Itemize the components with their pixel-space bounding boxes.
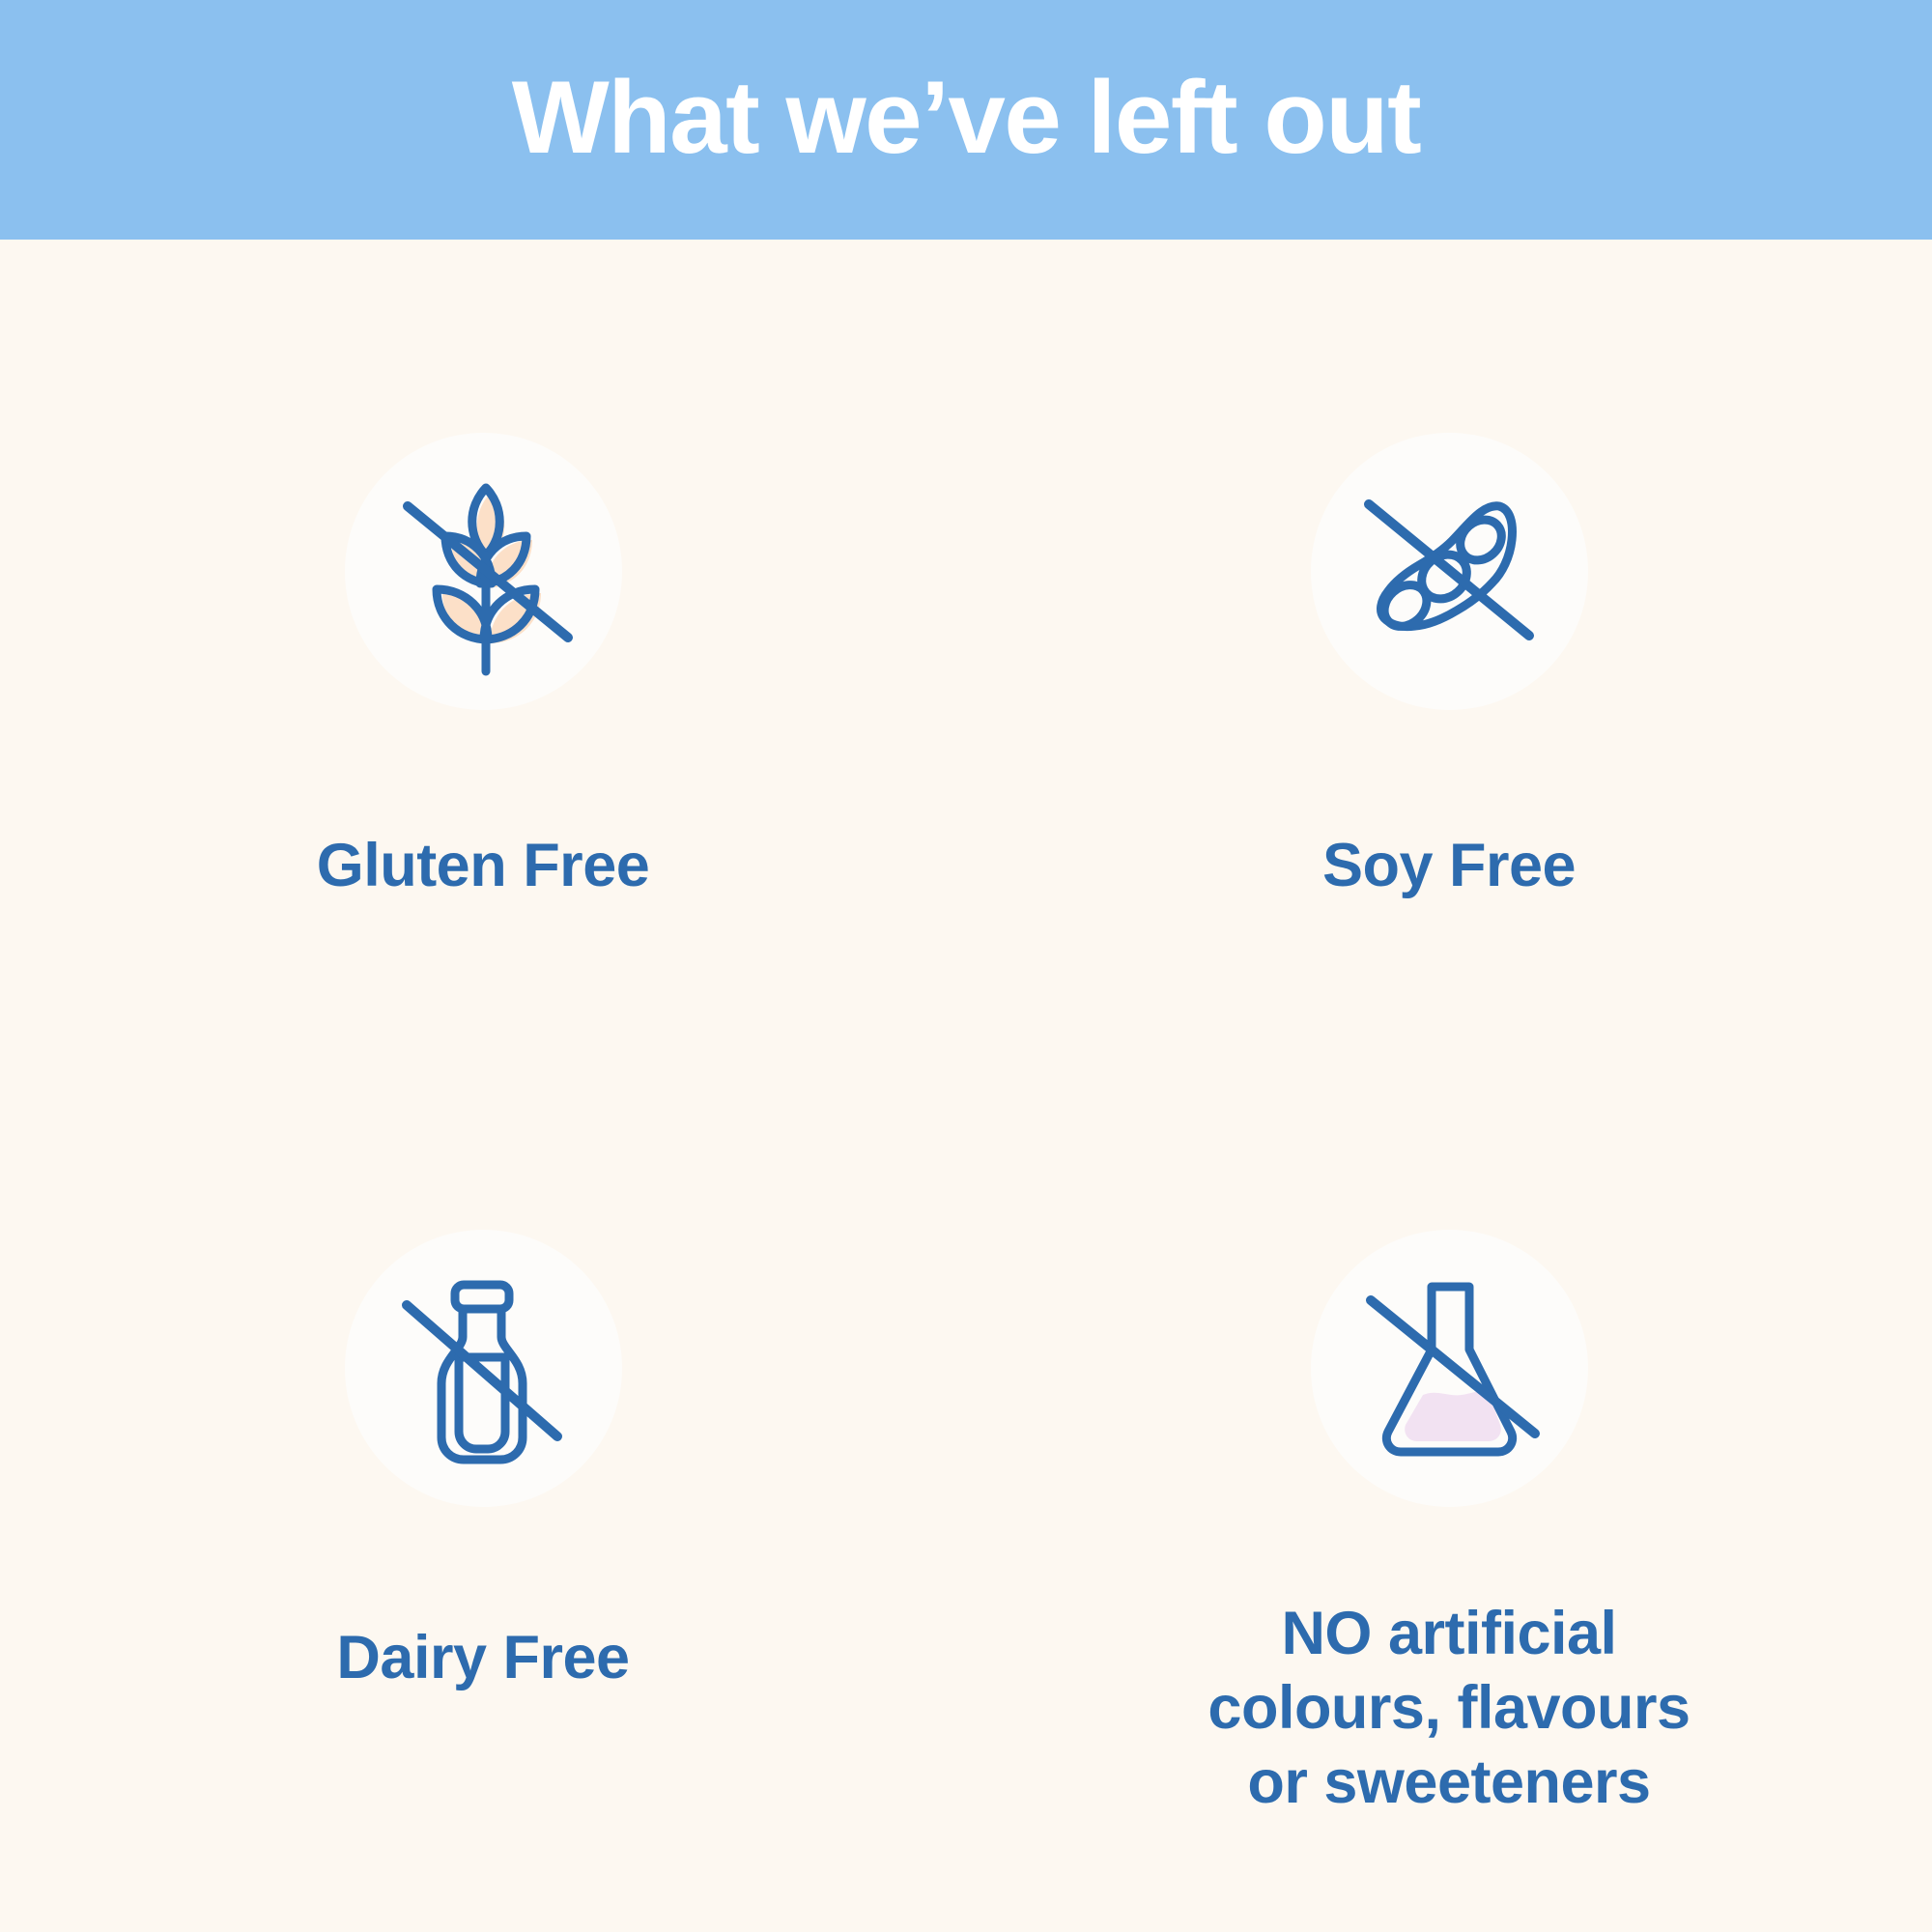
- no-soy-icon: [1328, 451, 1570, 693]
- icon-badge-no-artificial: [1311, 1230, 1588, 1507]
- icon-badge-gluten-free: [345, 433, 622, 710]
- benefit-label-no-artificial: NO artificial colours, flavours or sweet…: [1207, 1597, 1690, 1820]
- no-wheat-icon: [362, 451, 604, 693]
- benefits-grid: Gluten Free: [0, 240, 1932, 1932]
- benefit-item-no-artificial: NO artificial colours, flavours or sweet…: [966, 1086, 1932, 1932]
- benefit-item-dairy-free: Dairy Free: [0, 1086, 966, 1932]
- no-dairy-bottle-icon: [362, 1248, 604, 1490]
- benefit-item-soy-free: Soy Free: [966, 240, 1932, 1086]
- icon-badge-soy-free: [1311, 433, 1588, 710]
- page-title: What we’ve left out: [512, 66, 1421, 175]
- benefit-item-gluten-free: Gluten Free: [0, 240, 966, 1086]
- no-chemistry-flask-icon: [1328, 1248, 1570, 1490]
- benefit-label-dairy-free: Dairy Free: [336, 1621, 629, 1695]
- icon-badge-dairy-free: [345, 1230, 622, 1507]
- benefit-label-soy-free: Soy Free: [1322, 829, 1576, 903]
- page-header: What we’ve left out: [0, 0, 1932, 240]
- infographic-page: What we’ve left out: [0, 0, 1932, 1932]
- benefit-label-gluten-free: Gluten Free: [317, 829, 650, 903]
